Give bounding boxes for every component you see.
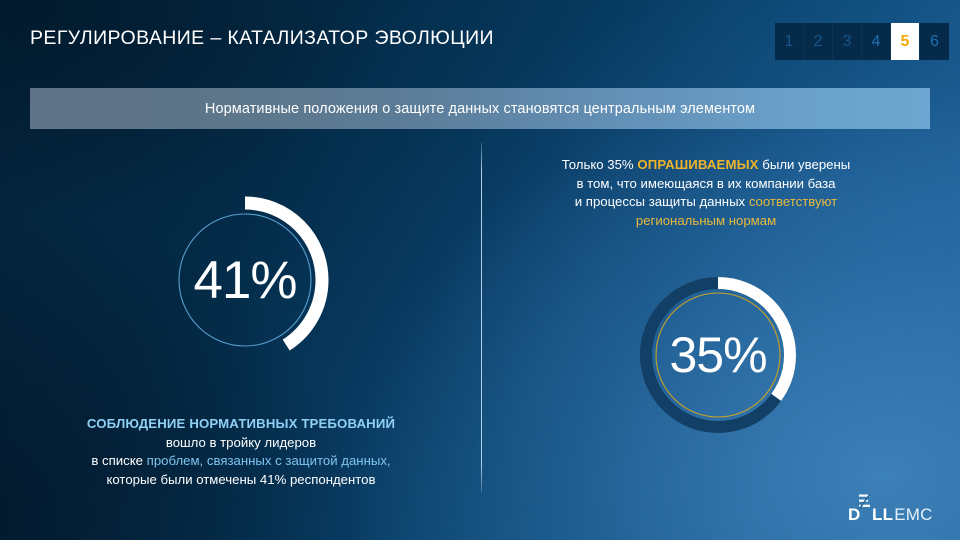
left-caption-line-3-highlight: проблем, связанных с защитой данных, (147, 453, 391, 468)
left-caption-heading: СОБЛЮДЕНИЕ НОРМАТИВНЫХ ТРЕБОВАНИЙ (87, 416, 395, 431)
pagination-page-4[interactable]: 4 (862, 23, 891, 60)
left-caption-line-2: вошло в тройку лидеров (10, 434, 472, 453)
right-caption-line-3-highlight: соответствуют (749, 194, 837, 209)
vertical-divider (481, 143, 482, 492)
right-caption-line-1-bold: ОПРАШИВАЕМЫХ (637, 157, 758, 172)
right-caption-line-1: Только 35% ОПРАШИВАЕМЫХ были уверены (492, 156, 920, 175)
left-caption: СОБЛЮДЕНИЕ НОРМАТИВНЫХ ТРЕБОВАНИЙ вошло … (10, 415, 472, 490)
dell-slashed-e-icon: E (860, 505, 872, 525)
slide-canvas: РЕГУЛИРОВАНИЕ – КАТАЛИЗАТОР ЭВОЛЮЦИИ 1 2… (0, 0, 960, 540)
dell-letters-ll: LL (872, 505, 893, 525)
compliance-donut-value-arc (168, 203, 322, 357)
left-caption-line-1: СОБЛЮДЕНИЕ НОРМАТИВНЫХ ТРЕБОВАНИЙ (10, 415, 472, 434)
regulation-donut-chart: 35% (639, 276, 797, 434)
emc-wordmark: EMC (894, 505, 932, 525)
headline-banner: Нормативные положения о защите данных ст… (30, 88, 930, 129)
page-title: РЕГУЛИРОВАНИЕ – КАТАЛИЗАТОР ЭВОЛЮЦИИ (30, 27, 494, 50)
dell-wordmark: D E LL (848, 505, 893, 525)
right-caption-line-4: региональным нормам (492, 212, 920, 231)
pagination-page-2[interactable]: 2 (804, 23, 833, 60)
pagination-page-3[interactable]: 3 (833, 23, 862, 60)
right-caption: Только 35% ОПРАШИВАЕМЫХ были уверены в т… (492, 156, 920, 231)
pagination[interactable]: 1 2 3 4 5 6 (775, 23, 949, 60)
headline-banner-text: Нормативные положения о защите данных ст… (205, 101, 755, 117)
right-caption-line-2: в том, что имеющаяся в их компании база (492, 175, 920, 194)
pagination-page-1[interactable]: 1 (775, 23, 804, 60)
right-caption-line-3: и процессы защиты данных соответствуют (492, 193, 920, 212)
regulation-donut-inner-ring (656, 293, 780, 417)
pagination-page-5-active[interactable]: 5 (891, 23, 920, 60)
right-caption-line-4-highlight: региональным нормам (636, 213, 776, 228)
right-caption-line-3-prefix: и процессы защиты данных (575, 194, 749, 209)
left-caption-line-3: в списке проблем, связанных с защитой да… (10, 452, 472, 471)
left-caption-line-3-prefix: в списке (91, 453, 146, 468)
compliance-donut-inner-ring (179, 214, 311, 346)
compliance-donut-chart: 41% (161, 196, 329, 364)
pagination-page-6[interactable]: 6 (920, 23, 949, 60)
right-caption-line-1-suffix: были уверены (759, 157, 851, 172)
left-caption-line-4: которые были отмечены 41% респондентов (10, 471, 472, 490)
right-caption-line-1-prefix: Только 35% (562, 157, 638, 172)
dell-emc-logo: D E LL EMC (848, 505, 933, 525)
